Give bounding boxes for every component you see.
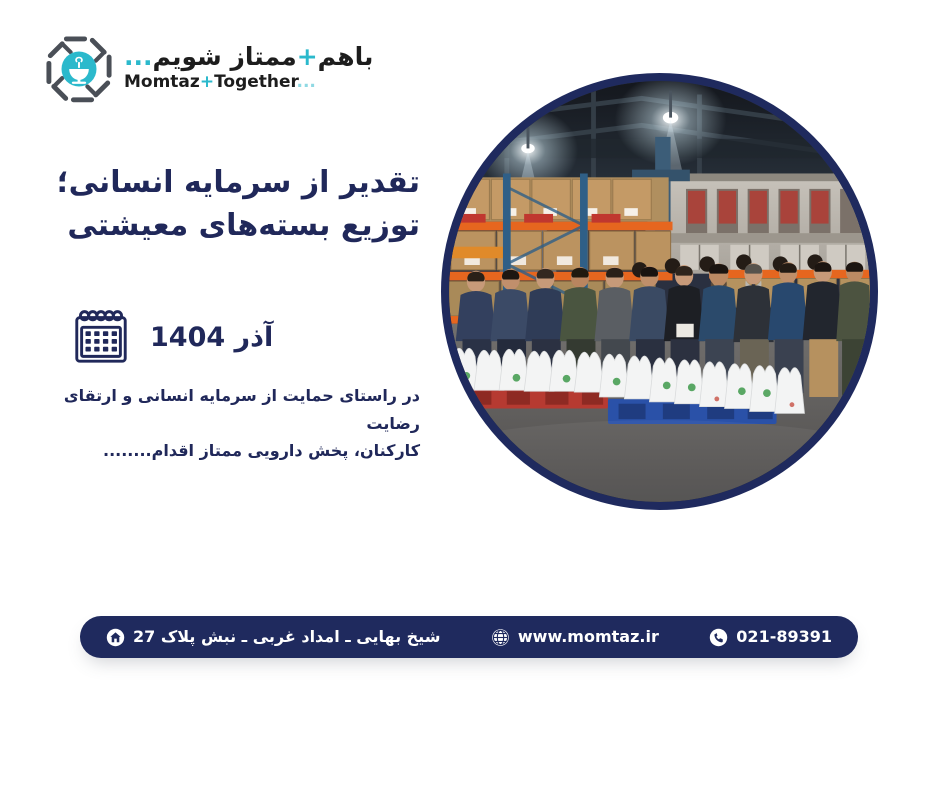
poster-canvas: باهم+ممتاز شویم... Momtaz+Together... تق… [0,0,940,788]
brand-tagline-fa-plus: + [297,42,318,71]
brand-tagline-fa-dots: ... [124,42,153,71]
brand-tagline-fa: باهم+ممتاز شویم... [124,43,373,72]
contact-footer: شیخ بهایی ـ امداد غربی ـ نبش پلاک 27 www… [80,616,858,658]
footer-phone[interactable]: 021-89391 [709,628,832,647]
footer-address[interactable]: شیخ بهایی ـ امداد غربی ـ نبش پلاک 27 [106,628,440,647]
footer-address-label: شیخ بهایی ـ امداد غربی ـ نبش پلاک 27 [133,629,440,646]
momtaz-pharmacy-octagon-logo-icon [44,34,114,104]
brand-tagline-en-dots: ... [297,72,316,92]
brand-tagline-en-plus: + [200,72,214,92]
calendar-icon [70,306,132,368]
brand-wordmark: باهم+ممتاز شویم... Momtaz+Together... [124,43,373,94]
footer-website-label: www.momtaz.ir [518,629,659,646]
headline-line-2: توزیع بسته‌های معیشتی [40,205,420,248]
brand-tagline-en-part-a: Momtaz [124,72,200,92]
brand-tagline-fa-part-b: ممتاز شویم [153,42,297,71]
home-pin-icon [106,628,125,647]
brand-tagline-en-part-b: Together [214,72,296,92]
brand-tagline-en: Momtaz+Together... [124,73,316,93]
event-photo-image [449,81,870,502]
body-paragraph: در راستای حمایت از سرمایه انسانی و ارتقا… [56,382,420,465]
date-row: آذر 1404 [70,306,420,368]
phone-icon [709,628,728,647]
brand-logo[interactable]: باهم+ممتاز شویم... Momtaz+Together... [44,34,373,104]
event-photo [441,73,878,510]
headline-line-1: تقدیر از سرمایه انسانی؛ [40,162,420,205]
page-title: تقدیر از سرمایه انسانی؛ توزیع بسته‌های م… [40,162,420,247]
globe-icon [491,628,510,647]
event-date: آذر 1404 [150,322,273,353]
body-line-1: در راستای حمایت از سرمایه انسانی و ارتقا… [56,382,420,437]
footer-phone-label: 021-89391 [736,629,832,646]
footer-website[interactable]: www.momtaz.ir [491,628,659,647]
brand-tagline-fa-part-a: باهم [318,42,374,71]
body-line-2: کارکنان، پخش دارویی ممتاز اقدام........ [56,437,420,465]
